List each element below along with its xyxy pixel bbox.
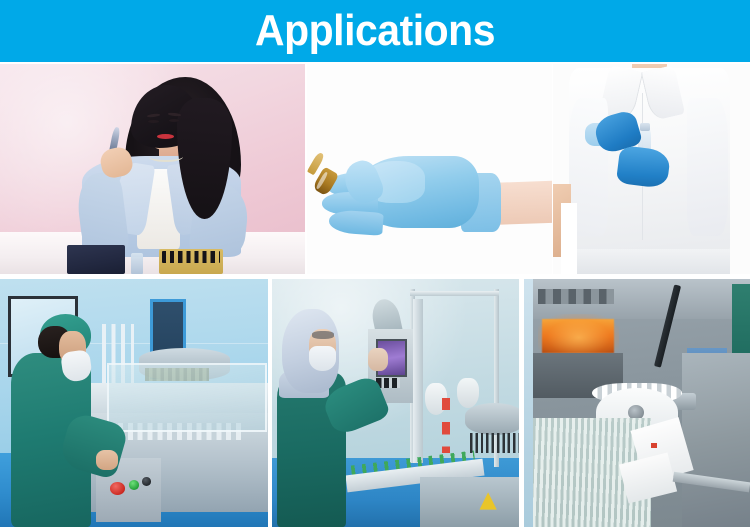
- vial-cap: [640, 123, 650, 131]
- photo-ampoule-sealing-flame-closeup: [524, 279, 750, 527]
- operator-face-mask: [309, 346, 336, 371]
- photo-lab-coat-technician-vial: [553, 64, 750, 274]
- machine-frame-beam: [410, 291, 499, 296]
- gallery-item-lab-coat-technician-vial[interactable]: [553, 64, 750, 274]
- selector-knob[interactable]: [142, 477, 151, 485]
- start-button[interactable]: [129, 480, 140, 490]
- burner-manifold: [538, 289, 615, 304]
- work-surface: [573, 249, 731, 274]
- lab-coat-sleeve-right: [687, 98, 728, 237]
- cosmetic-tray-vials: [162, 251, 220, 264]
- photo-operator-hmi-touchscreen-line: [272, 279, 519, 527]
- stainless-steel-panel: [682, 353, 750, 527]
- foreground-white-block: [561, 203, 577, 274]
- machine-safety-guard: [107, 363, 266, 431]
- page-title: Applications: [255, 9, 495, 53]
- model-eye-left: [148, 120, 158, 123]
- photo-cosmetic-ampoule-model: [0, 64, 305, 274]
- page-header-banner: Applications: [0, 0, 750, 62]
- machine-base-cabinet: [420, 477, 519, 527]
- operator-hand-on-screen: [368, 348, 388, 370]
- operator-goggles: [312, 331, 334, 338]
- photo-cleanroom-operator-filling-machine: [0, 279, 268, 527]
- gallery-item-cleanroom-operator-filling-machine[interactable]: [0, 279, 268, 527]
- filling-needles: [470, 433, 519, 453]
- model-necklace: [149, 151, 183, 161]
- gallery-item-gloved-hand-amber-ampoule[interactable]: [307, 64, 552, 274]
- operator-hand: [96, 450, 117, 470]
- gallery-item-cosmetic-ampoule-model[interactable]: [0, 64, 305, 274]
- red-alignment-mark: [651, 443, 658, 448]
- applications-gallery-page: Applications: [0, 0, 750, 527]
- gallery-item-ampoule-sealing-flame-closeup[interactable]: [524, 279, 750, 527]
- red-coiled-tubing: [442, 398, 449, 453]
- left-edge-strip: [524, 279, 533, 527]
- gallery-item-operator-hmi-touchscreen-line[interactable]: [272, 279, 519, 527]
- rotary-filling-head: [465, 403, 519, 435]
- product-box-navy: [67, 245, 125, 274]
- photo-gloved-hand-amber-ampoule: [307, 64, 552, 274]
- application-photo-grid: [0, 64, 750, 527]
- emergency-stop-button[interactable]: [110, 482, 125, 494]
- machine-column: [413, 299, 423, 463]
- product-bottle: [131, 253, 143, 274]
